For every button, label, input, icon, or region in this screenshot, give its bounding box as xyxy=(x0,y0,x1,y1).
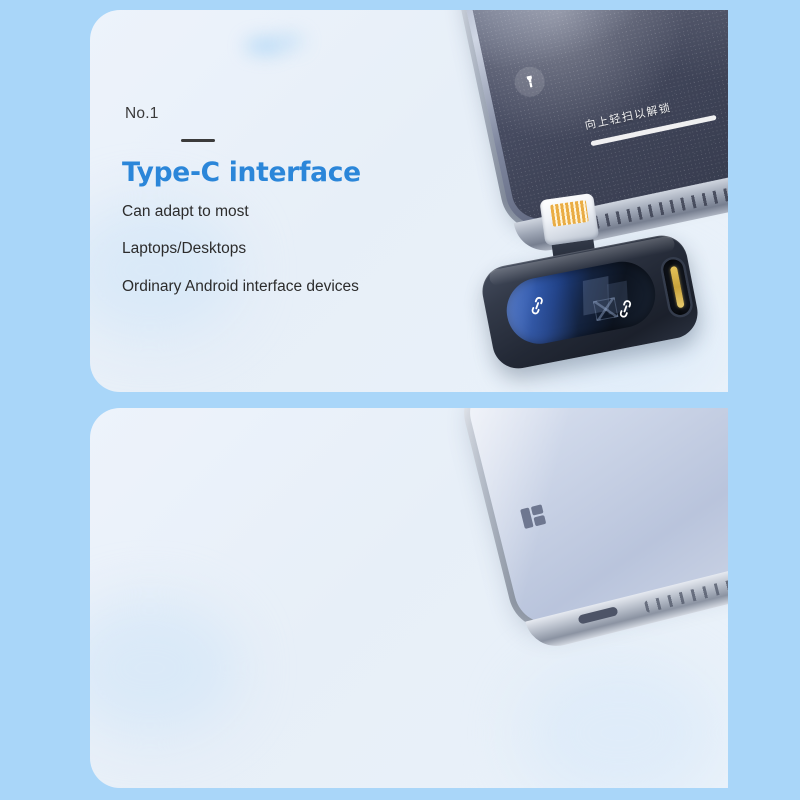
panel-number-label: No.1 xyxy=(125,105,361,123)
panel-1-text-block: No.1 Type-C interface Can adapt to most … xyxy=(122,105,361,294)
panel-description: Can adapt to most Laptops/Desktops Ordin… xyxy=(122,204,361,295)
bokeh-blob xyxy=(520,658,720,788)
feature-card-1: 向上轻扫以解锁 xyxy=(90,10,728,392)
description-line: Ordinary Android interface devices xyxy=(122,279,361,295)
feature-card-2: No.2 Lighting interface Supports iPhone … xyxy=(90,408,728,788)
title-divider xyxy=(181,139,215,142)
bokeh-blob xyxy=(278,34,304,48)
bokeh-blob xyxy=(90,598,240,738)
phone-charging-port xyxy=(578,606,619,624)
plug-tip xyxy=(539,193,599,246)
plug-pins xyxy=(550,200,589,227)
panel-title: Type-C interface xyxy=(122,157,361,188)
bokeh-blob xyxy=(245,38,285,54)
description-line: Can adapt to most xyxy=(122,204,361,220)
product-infographic: 向上轻扫以解锁 xyxy=(0,0,800,800)
description-line: Laptops/Desktops xyxy=(122,241,361,257)
phone-silver-iphone xyxy=(463,408,728,630)
adapter-lightning-to-usbc xyxy=(478,231,702,373)
port-contacts xyxy=(669,266,684,309)
